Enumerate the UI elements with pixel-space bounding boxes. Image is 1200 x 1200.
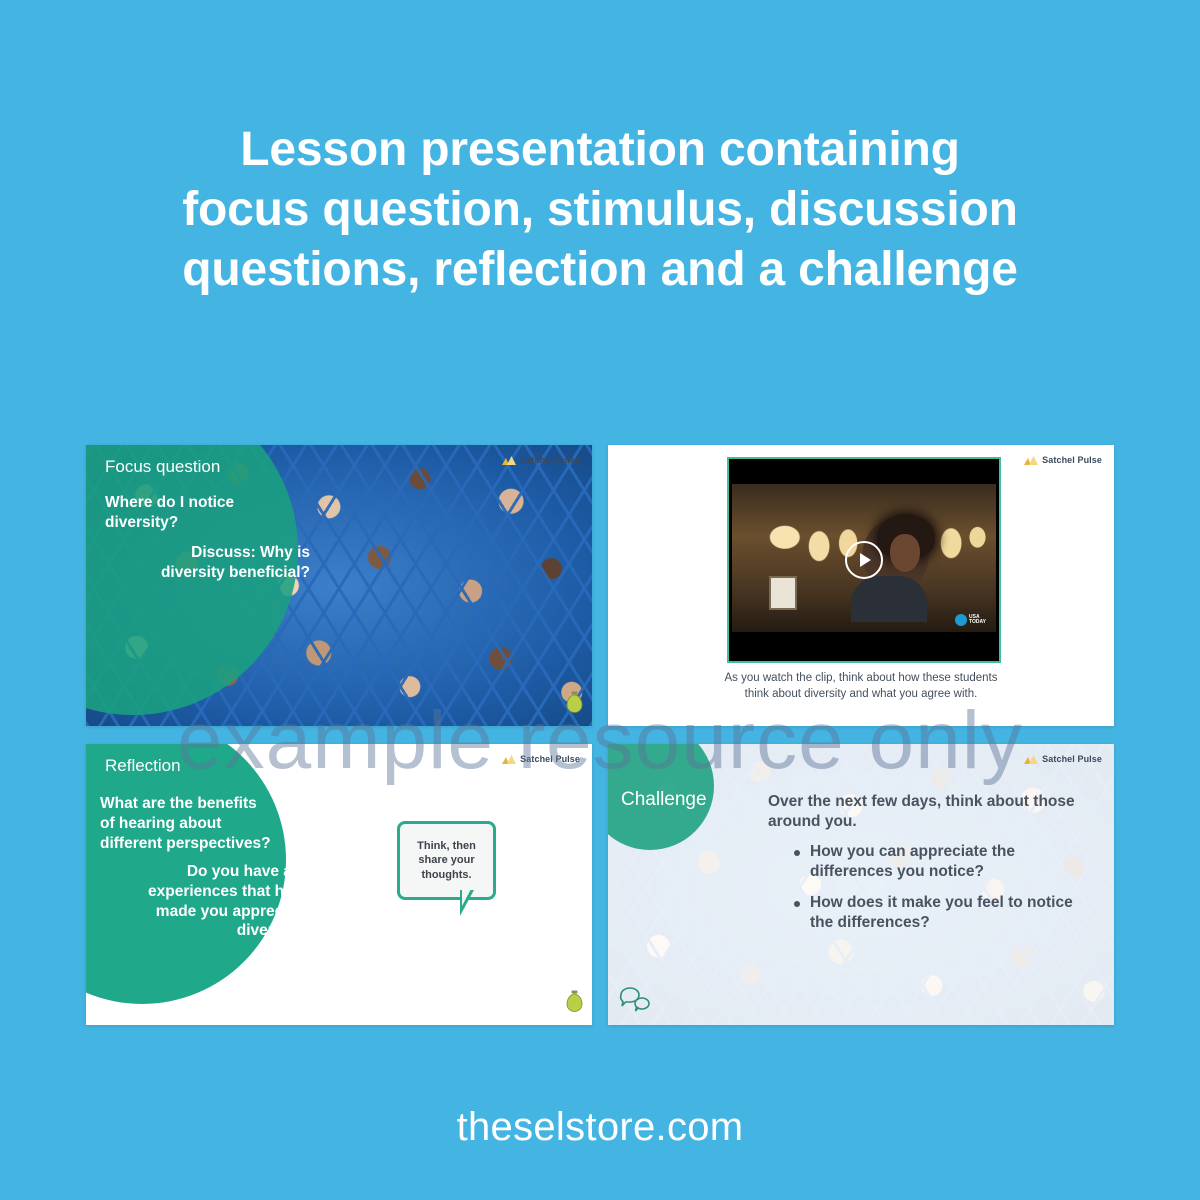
satchel-pulse-logo: Satchel Pulse xyxy=(502,455,580,465)
challenge-bullet-list: How you can appreciate the differences y… xyxy=(794,842,1096,934)
page-title: Lesson presentation containing focus que… xyxy=(0,120,1200,300)
challenge-bullet: How does it make you feel to notice the … xyxy=(794,893,1096,934)
mountain-logo-icon xyxy=(1024,754,1038,764)
satchel-pulse-label: Satchel Pulse xyxy=(1042,754,1102,764)
challenge-bullet: How you can appreciate the differences y… xyxy=(794,842,1096,883)
play-button-icon[interactable] xyxy=(845,541,883,579)
bubble-tail xyxy=(460,890,474,916)
satchel-pulse-label: Satchel Pulse xyxy=(520,455,580,465)
slide-stimulus[interactable]: Satchel Pulse USA TODAY As you watch the… xyxy=(608,445,1114,726)
mountain-logo-icon xyxy=(1024,455,1038,465)
usa-today-dot xyxy=(955,614,967,626)
video-subject-face xyxy=(890,534,920,572)
mountain-logo-icon xyxy=(502,455,516,465)
reflection-question-secondary: Do you have any experiences that have ma… xyxy=(100,862,310,941)
pear-lightbulb-icon xyxy=(566,691,583,718)
reflection-question-primary: What are the benefits of hearing about d… xyxy=(100,794,310,853)
focus-question-secondary: Discuss: Why is diversity beneficial? xyxy=(105,543,310,583)
speech-bubbles-icon xyxy=(618,986,650,1017)
challenge-body: Over the next few days, think about thos… xyxy=(768,792,1096,944)
satchel-pulse-logo: Satchel Pulse xyxy=(1024,754,1102,764)
slide-focus-question[interactable]: Satchel Pulse Focus question Where do I … xyxy=(86,445,592,726)
slide-grid: Satchel Pulse Focus question Where do I … xyxy=(86,445,1114,1025)
slide-kicker-reflection: Reflection xyxy=(105,756,181,776)
site-url: theselstore.com xyxy=(0,1105,1200,1150)
satchel-pulse-label: Satchel Pulse xyxy=(1042,455,1102,465)
slide-reflection[interactable]: Satchel Pulse Reflection What are the be… xyxy=(86,744,592,1025)
stimulus-caption: As you watch the clip, think about how t… xyxy=(642,671,1080,702)
satchel-pulse-label: Satchel Pulse xyxy=(520,754,580,764)
focus-question-primary: Where do I notice diversity? xyxy=(105,493,310,533)
video-frame: USA TODAY xyxy=(732,462,996,658)
think-share-bubble-text: Think, then share your thoughts. xyxy=(417,839,476,881)
usa-today-logo-icon: USA TODAY xyxy=(955,614,986,626)
slide-kicker-focus: Focus question xyxy=(105,457,220,477)
slide-kicker-challenge: Challenge xyxy=(621,789,707,811)
satchel-pulse-logo: Satchel Pulse xyxy=(502,754,580,764)
usa-today-label: USA TODAY xyxy=(969,615,986,626)
mountain-logo-icon xyxy=(502,754,516,764)
video-subject-torso xyxy=(851,576,927,622)
pear-lightbulb-icon xyxy=(566,990,583,1017)
video-player[interactable]: USA TODAY xyxy=(727,457,1001,663)
video-scene-picture-frame xyxy=(769,576,797,610)
slide-challenge[interactable]: Satchel Pulse Challenge Over the next fe… xyxy=(608,744,1114,1025)
challenge-intro: Over the next few days, think about thos… xyxy=(768,792,1096,833)
satchel-pulse-logo: Satchel Pulse xyxy=(1024,455,1102,465)
think-share-bubble: Think, then share your thoughts. xyxy=(397,821,496,900)
